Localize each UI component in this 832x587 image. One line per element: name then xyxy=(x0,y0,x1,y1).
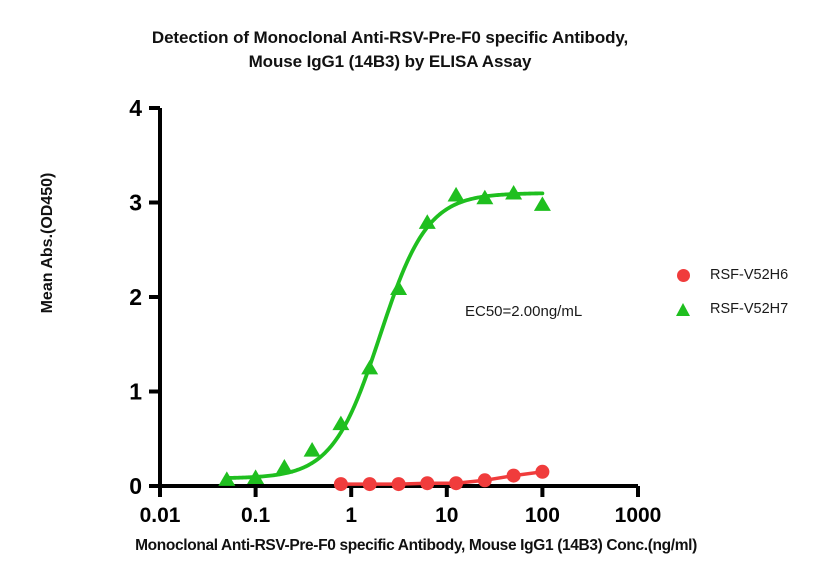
x-axis-label: Monoclonal Anti-RSV-Pre-F0 specific Anti… xyxy=(0,537,832,555)
data-point-RSF-V52H7-2 xyxy=(276,459,293,474)
x-tick-label-1: 0.1 xyxy=(241,504,271,527)
legend-circle-marker-icon xyxy=(668,269,698,282)
data-point-RSF-V52H6-1 xyxy=(363,477,377,491)
data-point-RSF-V52H6-6 xyxy=(507,469,521,483)
series-fit-curve-rsf-v52h7 xyxy=(227,193,543,478)
x-tick-label-4: 100 xyxy=(525,504,560,527)
chart-figure: Detection of Monoclonal Anti-RSV-Pre-F0 … xyxy=(0,0,832,587)
y-tick-label-1: 1 xyxy=(129,379,142,405)
y-axis-label: Mean Abs.(OD450) xyxy=(39,143,57,343)
x-tick-label-2: 1 xyxy=(345,504,357,527)
data-point-RSF-V52H6-3 xyxy=(420,476,434,490)
y-tick-label-0: 0 xyxy=(129,473,142,499)
chart-title-line-1: Detection of Monoclonal Anti-RSV-Pre-F0 … xyxy=(60,26,720,50)
chart-title-line-2: Mouse IgG1 (14B3) by ELISA Assay xyxy=(60,50,720,74)
data-point-RSF-V52H6-5 xyxy=(478,473,492,487)
data-point-RSF-V52H6-7 xyxy=(535,465,549,479)
data-point-RSF-V52H7-11 xyxy=(534,196,551,211)
legend-label-1: RSF-V52H7 xyxy=(698,301,788,317)
chart-title: Detection of Monoclonal Anti-RSV-Pre-F0 … xyxy=(60,26,720,74)
y-tick-label-2: 2 xyxy=(129,284,142,310)
y-tick-label-4: 4 xyxy=(129,95,142,121)
data-point-RSF-V52H7-6 xyxy=(390,280,407,295)
data-point-RSF-V52H7-3 xyxy=(304,442,321,457)
legend-item-rsf-v52h6[interactable]: RSF-V52H6 xyxy=(668,258,788,292)
legend-triangle-marker-icon xyxy=(668,303,698,316)
data-point-RSF-V52H7-8 xyxy=(448,187,465,202)
data-point-RSF-V52H6-2 xyxy=(392,477,406,491)
x-tick-label-5: 1000 xyxy=(615,504,662,527)
y-tick-label-3: 3 xyxy=(129,190,142,216)
data-point-RSF-V52H6-4 xyxy=(449,476,463,490)
data-point-RSF-V52H7-5 xyxy=(361,360,378,375)
legend-item-rsf-v52h7[interactable]: RSF-V52H7 xyxy=(668,292,788,326)
legend-label-0: RSF-V52H6 xyxy=(698,267,788,283)
x-tick-label-0: 0.01 xyxy=(140,504,181,527)
x-tick-label-3: 10 xyxy=(435,504,458,527)
data-point-RSF-V52H6-0 xyxy=(334,477,348,491)
ec50-annotation: EC50=2.00ng/mL xyxy=(465,303,582,320)
chart-legend: RSF-V52H6 RSF-V52H7 xyxy=(668,258,788,326)
